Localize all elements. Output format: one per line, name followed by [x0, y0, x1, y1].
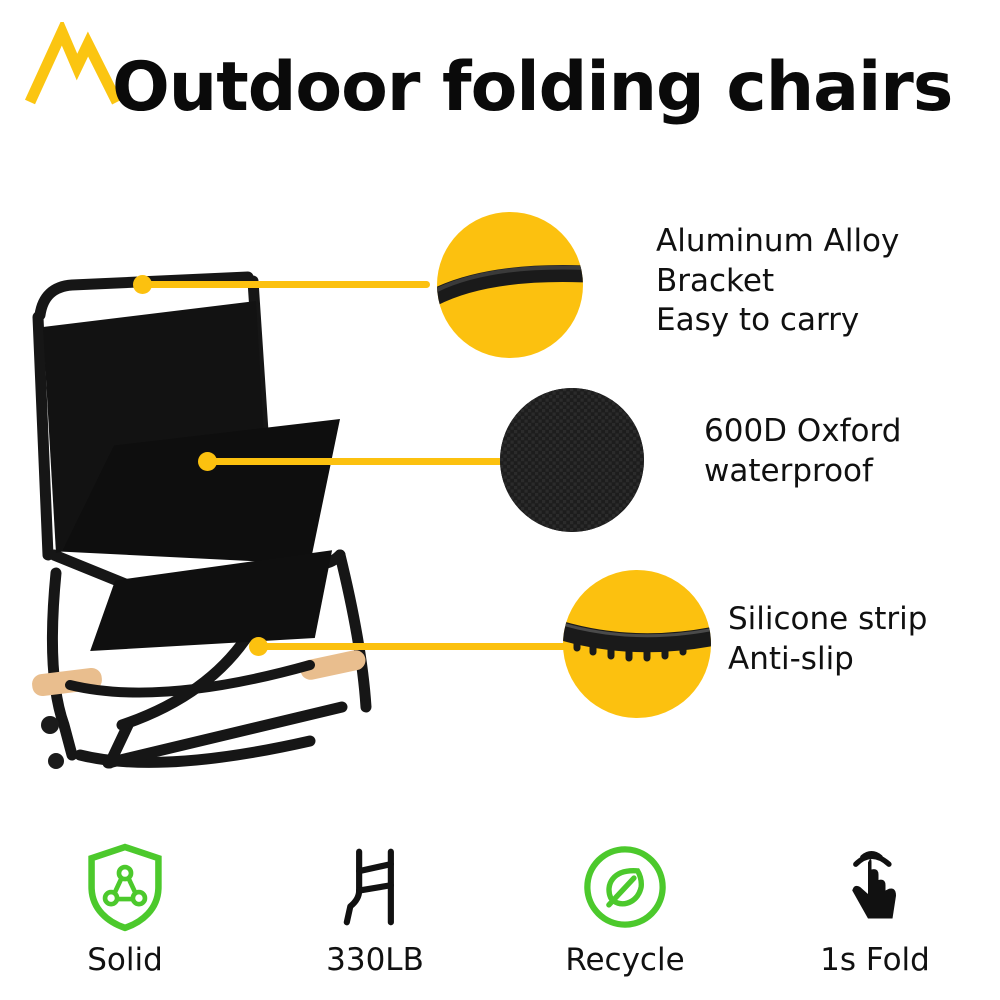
- chair-weight-icon: [250, 838, 500, 936]
- header: Outdoor folding chairs: [0, 0, 1000, 150]
- feature-text-silicone: Silicone strip Anti-slip: [728, 600, 1000, 679]
- badge-solid: Solid: [0, 838, 250, 978]
- badge-label-weight: 330LB: [250, 942, 500, 978]
- aluminum-tube-closeup: [437, 212, 583, 358]
- product-image: [10, 255, 440, 785]
- poster-canvas: Outdoor folding chairs: [0, 0, 1000, 1000]
- callout-circle-aluminum: [437, 212, 583, 358]
- badge-row: Solid 330LB: [0, 838, 1000, 1000]
- silicone-strip-closeup: [563, 570, 711, 718]
- leaf-circle-icon: [500, 838, 750, 936]
- hand-tap-icon: [750, 838, 1000, 936]
- badge-label-fold: 1s Fold: [750, 942, 1000, 978]
- leader-dot-oxford: [198, 452, 217, 471]
- mountain-logo-icon: [22, 22, 122, 108]
- page-title: Outdoor folding chairs: [112, 48, 952, 127]
- feature-text-oxford: 600D Oxford waterproof: [704, 412, 1000, 491]
- leader-line-silicone: [258, 643, 568, 650]
- feature-text-aluminum: Aluminum Alloy Bracket Easy to carry: [656, 222, 986, 341]
- shield-molecule-icon: [0, 838, 250, 936]
- leader-dot-aluminum: [133, 275, 152, 294]
- badge-recycle: Recycle: [500, 838, 750, 978]
- callout-circle-oxford: [500, 388, 644, 532]
- badge-weight: 330LB: [250, 838, 500, 978]
- leader-dot-silicone: [249, 637, 268, 656]
- badge-fold: 1s Fold: [750, 838, 1000, 978]
- leader-line-aluminum: [140, 281, 430, 288]
- badge-label-solid: Solid: [0, 942, 250, 978]
- callout-circle-silicone: [563, 570, 711, 718]
- badge-label-recycle: Recycle: [500, 942, 750, 978]
- oxford-fabric-closeup: [500, 388, 644, 532]
- leader-line-oxford: [205, 458, 505, 465]
